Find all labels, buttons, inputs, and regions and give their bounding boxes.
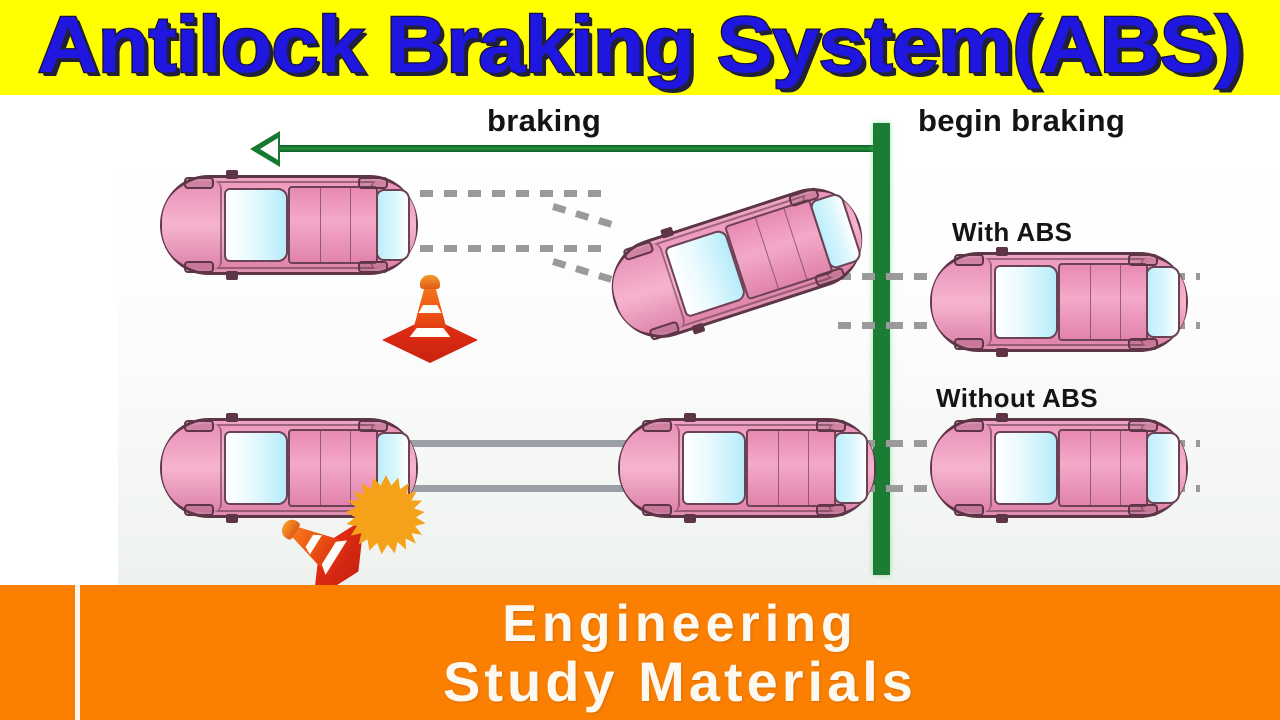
car-mirror-right — [996, 514, 1008, 523]
banner-line-2: Study Materials — [443, 653, 917, 711]
car-mirror-left — [996, 413, 1008, 422]
car-mirror-left — [996, 247, 1008, 256]
cone-tip — [420, 275, 440, 289]
car-rear-window — [834, 432, 868, 504]
car-mirror-left — [226, 170, 238, 179]
car-with-abs-left — [160, 175, 418, 275]
car-wheel-front-right — [358, 177, 388, 189]
car-windshield — [224, 188, 288, 262]
car-wheel-front-left — [184, 177, 214, 189]
car-wheel-rear-left — [184, 504, 214, 516]
bottom-branding-banner: Engineering Study Materials — [0, 585, 1280, 720]
traffic-cone-upright-icon — [382, 263, 478, 363]
label-braking: braking — [487, 103, 601, 139]
car-rear-window — [1146, 266, 1180, 338]
page-title: Antilock Braking System(ABS) — [0, 0, 1280, 94]
car-wheel-rear-right — [1128, 504, 1158, 516]
braking-arrow-head-icon — [250, 131, 280, 167]
title-banner: Antilock Braking System(ABS) — [0, 0, 1280, 95]
label-without-abs: Without ABS — [936, 383, 1098, 414]
banner-line-1: Engineering — [502, 595, 857, 653]
screenshot-root: Antilock Braking System(ABS) braking beg… — [0, 0, 1280, 720]
cone-stripe-upper — [408, 305, 452, 313]
skid-mark-lower-left — [398, 485, 636, 492]
car-wheel-front-left — [642, 420, 672, 432]
car-wheel-rear-left — [954, 338, 984, 350]
track-dashed-with-abs-lower-right — [838, 322, 894, 329]
car-wheel-front-right — [1128, 420, 1158, 432]
car-wheel-front-right — [1128, 254, 1158, 266]
car-mirror-right — [226, 514, 238, 523]
track-dashed-upper-left — [420, 190, 610, 197]
car-rear-window — [1146, 432, 1180, 504]
skid-mark-upper-left — [398, 440, 636, 447]
banner-text-block: Engineering Study Materials — [80, 585, 1280, 720]
car-roof — [1058, 263, 1148, 341]
car-with-abs-begin — [930, 252, 1188, 352]
car-wheel-front-left — [184, 420, 214, 432]
car-wheel-front-right — [358, 420, 388, 432]
car-without-abs-skidding — [618, 418, 876, 518]
car-rear-window — [376, 189, 410, 261]
abs-diagram: braking begin braking With ABS Without A… — [0, 95, 1280, 585]
car-mirror-right — [226, 271, 238, 280]
car-roof — [1058, 429, 1148, 507]
car-wheel-front-left — [954, 254, 984, 266]
car-windshield — [994, 265, 1058, 339]
car-mirror-left — [684, 413, 696, 422]
car-roof — [288, 186, 378, 264]
car-windshield — [994, 431, 1058, 505]
car-wheel-rear-left — [184, 261, 214, 273]
braking-arrow-line — [268, 145, 876, 152]
car-wheel-rear-left — [954, 504, 984, 516]
label-with-abs: With ABS — [952, 217, 1072, 248]
car-without-abs-begin — [930, 418, 1188, 518]
car-windshield — [682, 431, 746, 505]
car-wheel-rear-right — [816, 504, 846, 516]
car-wheel-rear-left — [642, 504, 672, 516]
car-roof — [746, 429, 836, 507]
car-wheel-front-right — [816, 420, 846, 432]
car-mirror-right — [996, 348, 1008, 357]
car-wheel-front-left — [954, 420, 984, 432]
track-dashed-lower-left — [420, 245, 610, 252]
car-mirror-left — [226, 413, 238, 422]
car-windshield — [224, 431, 288, 505]
car-mirror-right — [684, 514, 696, 523]
label-begin-braking: begin braking — [918, 103, 1125, 139]
car-wheel-rear-right — [1128, 338, 1158, 350]
